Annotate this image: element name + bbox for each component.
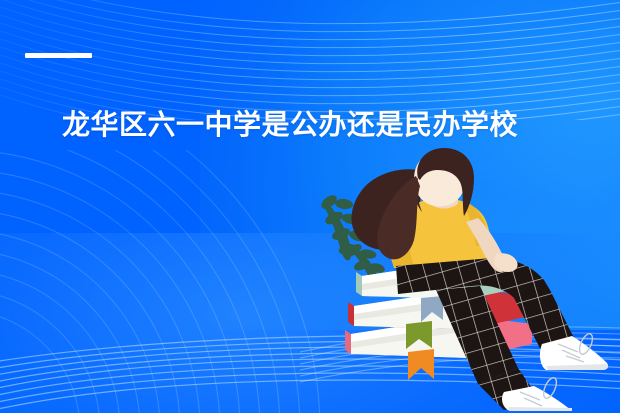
page-title: 龙华区六一中学是公办还是民办学校 (62, 105, 607, 145)
illustration-woman-on-books (318, 148, 620, 413)
bookmark-orange (408, 349, 434, 380)
accent-rule (25, 53, 92, 58)
banner-image: 龙华区六一中学是公办还是民办学校 (0, 0, 620, 413)
